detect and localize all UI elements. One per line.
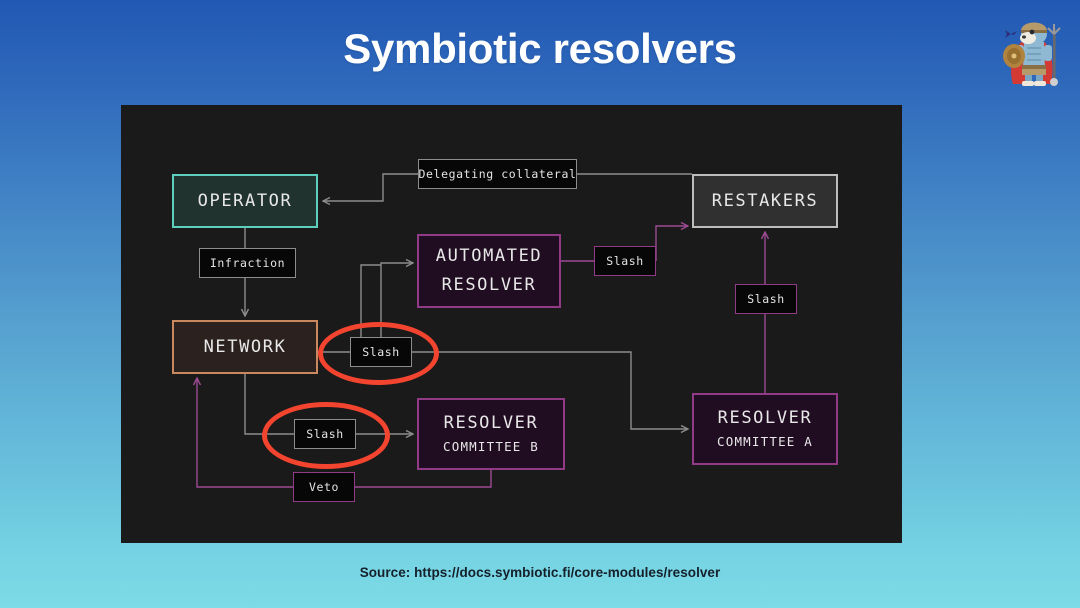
edge-label-slash-network-committee-b: Slash: [294, 419, 356, 449]
node-resolver-committee-b[interactable]: RESOLVER COMMITTEE B: [417, 398, 565, 470]
node-resolver-committee-a-label: RESOLVER: [718, 408, 813, 428]
node-restakers-label: RESTAKERS: [712, 191, 819, 211]
edge-label-slash-network-automated: Slash: [350, 337, 412, 367]
node-automated-resolver[interactable]: AUTOMATED RESOLVER: [417, 234, 561, 308]
page-title: Symbiotic resolvers: [0, 26, 1080, 72]
node-network[interactable]: NETWORK: [172, 320, 318, 374]
node-network-label: NETWORK: [204, 337, 287, 357]
node-resolver-committee-b-label: RESOLVER: [444, 413, 539, 433]
source-caption: Source: https://docs.symbiotic.fi/core-m…: [0, 565, 1080, 580]
node-resolver-committee-b-sublabel: COMMITTEE B: [443, 439, 539, 454]
mascot-warrior-logo: [997, 12, 1069, 92]
node-resolver-committee-a-sublabel: COMMITTEE A: [717, 434, 813, 449]
node-operator[interactable]: OPERATOR: [172, 174, 318, 228]
slide-canvas: Symbiotic resolvers: [0, 0, 1080, 608]
node-restakers[interactable]: RESTAKERS: [692, 174, 838, 228]
edge-label-veto: Veto: [293, 472, 355, 502]
diagram-panel: OPERATOR NETWORK AUTOMATED RESOLVER REST…: [121, 105, 902, 543]
node-resolver-committee-a[interactable]: RESOLVER COMMITTEE A: [692, 393, 838, 465]
edge-label-slash-automated-restakers: Slash: [594, 246, 656, 276]
edge-label-infraction: Infraction: [199, 248, 296, 278]
node-operator-label: OPERATOR: [198, 191, 293, 211]
node-automated-resolver-label: AUTOMATED: [436, 246, 543, 266]
node-automated-resolver-sublabel: RESOLVER: [442, 275, 537, 295]
edge-label-delegating-collateral: Delegating collateral: [418, 159, 577, 189]
edge-label-slash-committee-a-restakers: Slash: [735, 284, 797, 314]
